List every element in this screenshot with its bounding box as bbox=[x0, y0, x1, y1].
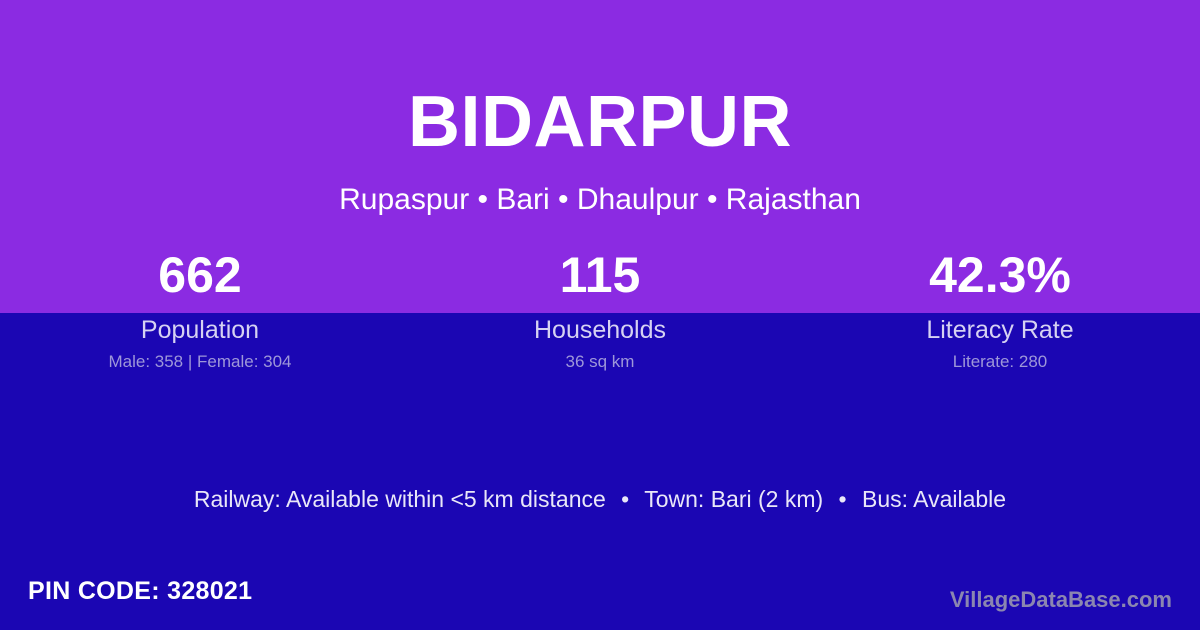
separator-dot-icon: • bbox=[612, 484, 638, 514]
stat-households: 115 Households 36 sq km bbox=[400, 244, 800, 384]
stat-sublabel: Male: 358 | Female: 304 bbox=[0, 352, 400, 372]
stat-literacy-rate: 42.3% Literacy Rate Literate: 280 bbox=[800, 244, 1200, 384]
stat-population: 662 Population Male: 358 | Female: 304 bbox=[0, 244, 400, 384]
site-brand: VillageDataBase.com bbox=[950, 587, 1172, 613]
separator-dot-icon: • bbox=[830, 484, 856, 514]
stat-sublabel: 36 sq km bbox=[400, 352, 800, 372]
amenity-bus: Bus: Available bbox=[862, 486, 1006, 512]
village-info-card: BIDARPUR Rupaspur • Bari • Dhaulpur • Ra… bbox=[0, 0, 1200, 630]
amenity-town: Town: Bari (2 km) bbox=[644, 486, 823, 512]
page-title: BIDARPUR bbox=[0, 83, 1200, 161]
stat-value: 42.3% bbox=[800, 244, 1200, 313]
stat-value: 115 bbox=[400, 244, 800, 313]
pin-code: PIN CODE: 328021 bbox=[28, 576, 252, 606]
stats-row: 662 Population Male: 358 | Female: 304 1… bbox=[0, 244, 1200, 384]
amenity-railway: Railway: Available within <5 km distance bbox=[194, 486, 606, 512]
stat-label: Population bbox=[0, 315, 400, 345]
stat-value: 662 bbox=[0, 244, 400, 313]
amenities-line: Railway: Available within <5 km distance… bbox=[0, 484, 1200, 514]
stat-label: Literacy Rate bbox=[800, 315, 1200, 345]
stat-label: Households bbox=[400, 315, 800, 345]
breadcrumb: Rupaspur • Bari • Dhaulpur • Rajasthan bbox=[0, 182, 1200, 218]
stat-sublabel: Literate: 280 bbox=[800, 352, 1200, 372]
footer: PIN CODE: 328021 VillageDataBase.com bbox=[0, 570, 1200, 630]
